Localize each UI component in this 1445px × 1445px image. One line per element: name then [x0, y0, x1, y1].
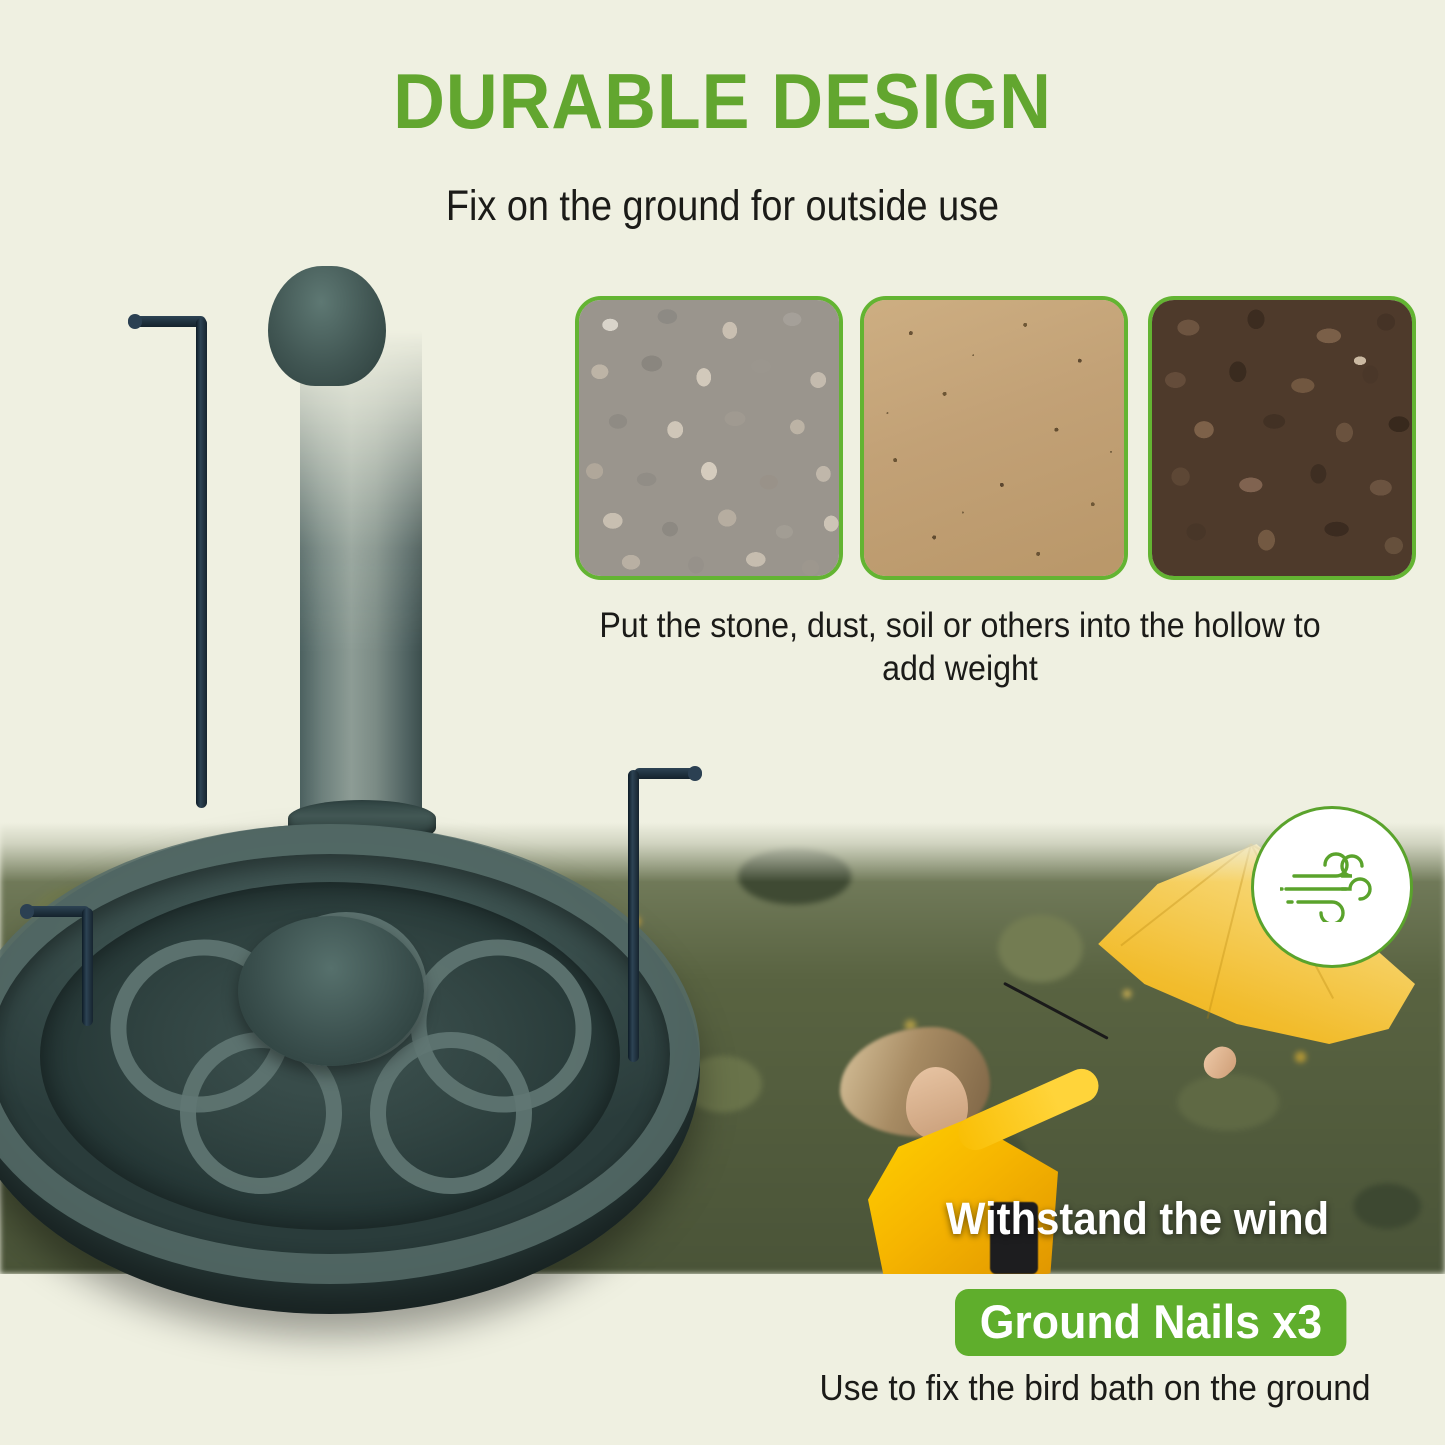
material-swatch-soil — [1148, 296, 1416, 580]
wind-icon — [1280, 852, 1384, 922]
nail-cap — [688, 766, 702, 781]
product-photo — [0, 300, 720, 1310]
page-subtitle: Fix on the ground for outside use — [87, 185, 1359, 228]
sand-texture — [864, 300, 1124, 576]
nail-stem — [82, 908, 93, 1026]
ground-nail-bottom-left — [20, 898, 110, 1026]
nail-stem — [196, 318, 207, 808]
footer-note: Use to fix the bird bath on the ground — [770, 1370, 1421, 1406]
pole-finial — [268, 266, 386, 386]
soil-texture — [1152, 300, 1412, 576]
ground-nails-badge: Ground Nails x3 — [955, 1289, 1347, 1356]
ground-nail-left — [128, 308, 218, 808]
withstand-wind-caption: Withstand the wind — [852, 1196, 1424, 1241]
material-swatch-dust — [860, 296, 1128, 580]
nail-stem — [628, 770, 639, 1062]
wind-badge — [1251, 806, 1413, 968]
nail-cap — [128, 314, 142, 329]
page-title: DURABLE DESIGN — [58, 62, 1387, 140]
pedestal-pole — [300, 330, 422, 850]
nail-cap — [20, 904, 34, 919]
ground-nail-right — [620, 760, 702, 1060]
product-infographic: DURABLE DESIGN Fix on the ground for out… — [0, 0, 1445, 1445]
